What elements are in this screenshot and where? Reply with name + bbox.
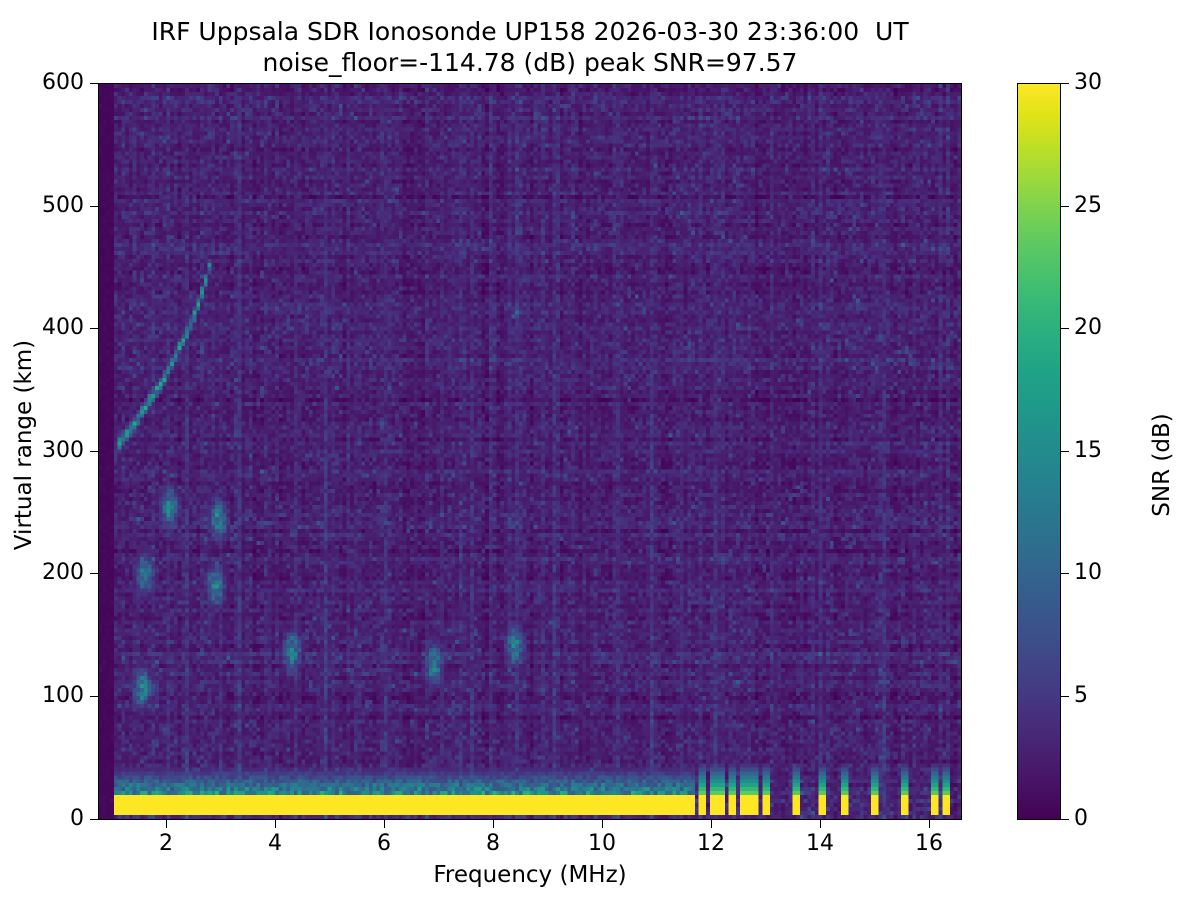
- colorbar[interactable]: [1017, 83, 1061, 820]
- x-ticklabel-14: 14: [806, 833, 834, 855]
- y-ticklabel-100: 100: [42, 685, 84, 707]
- x-tick-2: [166, 820, 167, 828]
- x-ticklabel-10: 10: [588, 833, 616, 855]
- x-ticklabel-2: 2: [159, 833, 173, 855]
- title-line-1: IRF Uppsala SDR Ionosonde UP158 2026-03-…: [0, 16, 1060, 47]
- cb-tick-10: [1061, 573, 1069, 574]
- x-tick-6: [384, 820, 385, 828]
- cb-ticklabel-10: 10: [1074, 562, 1102, 584]
- cb-tick-25: [1061, 206, 1069, 207]
- x-ticklabel-6: 6: [377, 833, 391, 855]
- figure-title: IRF Uppsala SDR Ionosonde UP158 2026-03-…: [0, 16, 1060, 78]
- colorbar-gradient: [1018, 84, 1060, 819]
- ionogram-heatmap: [99, 84, 961, 819]
- cb-tick-30: [1061, 83, 1069, 84]
- cb-ticklabel-5: 5: [1074, 685, 1088, 707]
- x-ticklabel-4: 4: [268, 833, 282, 855]
- colorbar-label: SNR (dB): [1149, 315, 1175, 615]
- cb-ticklabel-25: 25: [1074, 195, 1102, 217]
- x-tick-16: [929, 820, 930, 828]
- ionogram-figure: IRF Uppsala SDR Ionosonde UP158 2026-03-…: [0, 0, 1200, 900]
- y-axis-label: Virtual range (km): [11, 280, 37, 610]
- x-axis-label: Frequency (MHz): [98, 862, 962, 888]
- x-ticklabel-16: 16: [915, 833, 943, 855]
- y-tick-0: [90, 819, 98, 820]
- x-ticklabel-8: 8: [486, 833, 500, 855]
- cb-tick-20: [1061, 328, 1069, 329]
- y-tick-600: [90, 83, 98, 84]
- y-tick-300: [90, 451, 98, 452]
- title-line-2: noise_floor=-114.78 (dB) peak SNR=97.57: [0, 47, 1060, 78]
- cb-tick-0: [1061, 819, 1069, 820]
- x-tick-10: [602, 820, 603, 828]
- cb-ticklabel-0: 0: [1074, 808, 1088, 830]
- cb-tick-15: [1061, 451, 1069, 452]
- y-tick-400: [90, 328, 98, 329]
- y-ticklabel-400: 400: [42, 317, 84, 339]
- y-ticklabel-0: 0: [70, 808, 84, 830]
- x-tick-12: [711, 820, 712, 828]
- cb-ticklabel-20: 20: [1074, 317, 1102, 339]
- y-ticklabel-200: 200: [42, 562, 84, 584]
- x-tick-4: [275, 820, 276, 828]
- y-tick-100: [90, 696, 98, 697]
- y-ticklabel-500: 500: [42, 195, 84, 217]
- x-tick-14: [820, 820, 821, 828]
- ionogram-plot-area[interactable]: [98, 83, 962, 820]
- y-tick-500: [90, 206, 98, 207]
- y-ticklabel-600: 600: [42, 72, 84, 94]
- cb-tick-5: [1061, 696, 1069, 697]
- cb-ticklabel-15: 15: [1074, 440, 1102, 462]
- cb-ticklabel-30: 30: [1074, 72, 1102, 94]
- y-tick-200: [90, 573, 98, 574]
- x-ticklabel-12: 12: [697, 833, 725, 855]
- y-ticklabel-300: 300: [42, 440, 84, 462]
- x-tick-8: [493, 820, 494, 828]
